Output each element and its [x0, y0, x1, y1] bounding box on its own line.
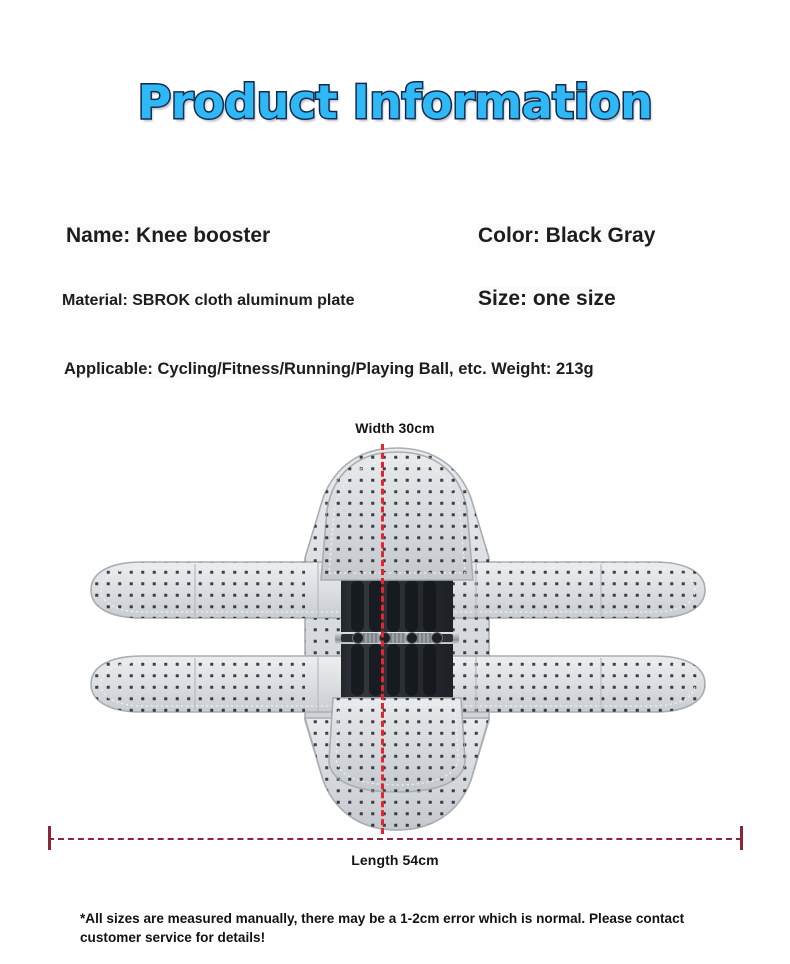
page-title: Product Information — [138, 78, 653, 126]
width-measure-line — [381, 444, 384, 834]
width-dimension-label: Width 30cm — [0, 420, 790, 436]
spec-size: Size: one size — [478, 287, 616, 311]
hinge-panel — [335, 568, 459, 708]
product-image — [45, 440, 745, 835]
page-title-container: Product Information — [0, 78, 790, 126]
spec-material: Material: SBROK cloth aluminum plate — [62, 292, 354, 310]
measurement-disclaimer: *All sizes are measured manually, there … — [80, 909, 720, 948]
length-dimension-label: Length 54cm — [0, 852, 790, 868]
body-bottom-taper — [305, 698, 489, 830]
spec-color: Color: Black Gray — [478, 224, 655, 248]
spec-name: Name: Knee booster — [66, 224, 270, 248]
length-measure-cap-right — [740, 826, 743, 850]
length-measure-line — [48, 838, 742, 840]
hinge-hardware — [335, 632, 459, 644]
spec-applicable: Applicable: Cycling/Fitness/Running/Play… — [64, 360, 594, 379]
length-measure-cap-left — [48, 826, 51, 850]
